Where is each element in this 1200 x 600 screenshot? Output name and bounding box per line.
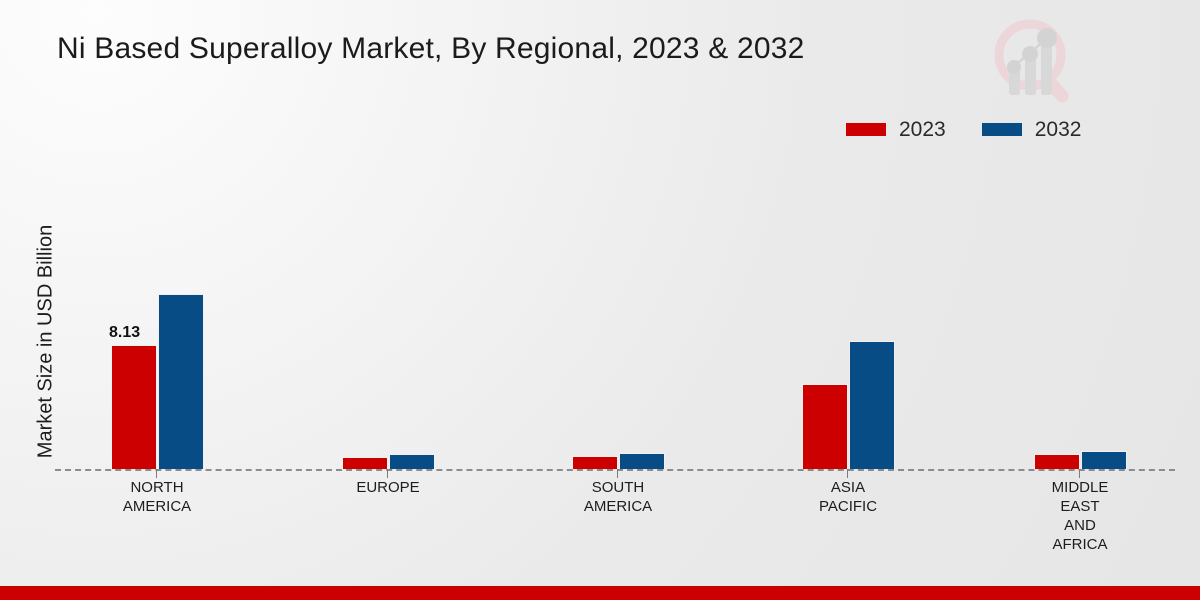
bar-group-europe: EUROPE <box>328 239 448 469</box>
x-axis-baseline <box>55 469 1175 471</box>
plot-area: 8.13 NORTH AMERICA EUROPE SOUTH AMERICA <box>0 0 1200 600</box>
axis-tick <box>387 469 388 478</box>
category-label-europe: EUROPE <box>303 478 473 497</box>
bar-north-america-2023[interactable] <box>111 345 157 469</box>
category-label-middle-east-and-africa: MIDDLE EAST AND AFRICA <box>995 478 1165 554</box>
category-label-south-america: SOUTH AMERICA <box>533 478 703 516</box>
bar-middle-east-and-africa-2032[interactable] <box>1081 451 1127 469</box>
bar-south-america-2032[interactable] <box>619 453 665 469</box>
axis-tick <box>847 469 848 478</box>
bar-group-north-america: 8.13 NORTH AMERICA <box>97 239 217 469</box>
chart-container: Ni Based Superalloy Market, By Regional,… <box>0 0 1200 600</box>
bar-group-south-america: SOUTH AMERICA <box>558 239 678 469</box>
bar-group-asia-pacific: ASIA PACIFIC <box>788 239 908 469</box>
footer-accent-bar <box>0 586 1200 600</box>
bar-north-america-2032[interactable] <box>158 294 204 469</box>
category-label-asia-pacific: ASIA PACIFIC <box>763 478 933 516</box>
category-label-north-america: NORTH AMERICA <box>72 478 242 516</box>
bar-asia-pacific-2032[interactable] <box>849 341 895 469</box>
bar-europe-2032[interactable] <box>389 454 435 469</box>
bar-middle-east-and-africa-2023[interactable] <box>1034 454 1080 469</box>
bar-group-middle-east-and-africa: MIDDLE EAST AND AFRICA <box>1020 239 1140 469</box>
axis-tick <box>156 469 157 478</box>
bar-south-america-2023[interactable] <box>572 456 618 469</box>
axis-tick <box>1079 469 1080 478</box>
bar-europe-2023[interactable] <box>342 457 388 469</box>
axis-tick <box>617 469 618 478</box>
bar-asia-pacific-2023[interactable] <box>802 384 848 469</box>
